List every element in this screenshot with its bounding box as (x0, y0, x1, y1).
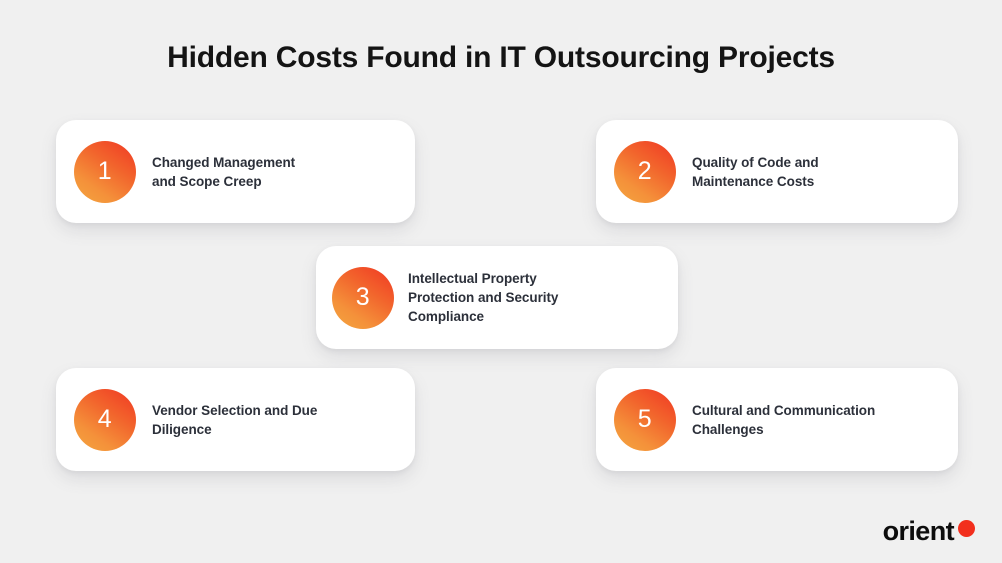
card-label-4-line-1: Vendor Selection and Due (152, 401, 317, 420)
page-title: Hidden Costs Found in IT Outsourcing Pro… (0, 38, 1002, 78)
card-label-1-line-1: Changed Management (152, 153, 295, 172)
card-number-badge-3: 3 (332, 267, 394, 329)
card-number-badge-5: 5 (614, 389, 676, 451)
card-label-5-line-1: Cultural and Communication (692, 401, 875, 420)
card-label-3-line-1: Intellectual Property (408, 269, 558, 288)
card-label-2: Quality of Code and Maintenance Costs (692, 153, 819, 191)
card-label-2-line-1: Quality of Code and (692, 153, 819, 172)
card-label-4-line-2: Diligence (152, 420, 317, 439)
logo-dot-icon (958, 520, 975, 537)
card-number-badge-2: 2 (614, 141, 676, 203)
card-label-3-line-2: Protection and Security (408, 288, 558, 307)
card-number-1: 1 (98, 159, 112, 184)
card-label-4: Vendor Selection and Due Diligence (152, 401, 317, 439)
card-label-5-line-2: Challenges (692, 420, 875, 439)
hidden-cost-card-4[interactable]: 4 Vendor Selection and Due Diligence (56, 368, 415, 471)
card-number-2: 2 (638, 159, 652, 184)
card-label-3-line-3: Compliance (408, 307, 558, 326)
card-label-3: Intellectual Property Protection and Sec… (408, 269, 558, 326)
orient-logo: orient (883, 518, 975, 545)
card-number-badge-4: 4 (74, 389, 136, 451)
card-label-1-line-2: and Scope Creep (152, 172, 295, 191)
hidden-cost-card-5[interactable]: 5 Cultural and Communication Challenges (596, 368, 958, 471)
card-label-2-line-2: Maintenance Costs (692, 172, 819, 191)
card-number-5: 5 (638, 407, 652, 432)
logo-wordmark: orient (883, 518, 954, 545)
hidden-cost-card-2[interactable]: 2 Quality of Code and Maintenance Costs (596, 120, 958, 223)
hidden-cost-card-1[interactable]: 1 Changed Management and Scope Creep (56, 120, 415, 223)
card-number-3: 3 (356, 285, 370, 310)
card-label-1: Changed Management and Scope Creep (152, 153, 295, 191)
hidden-cost-card-3[interactable]: 3 Intellectual Property Protection and S… (316, 246, 678, 349)
card-label-5: Cultural and Communication Challenges (692, 401, 875, 439)
card-number-badge-1: 1 (74, 141, 136, 203)
card-number-4: 4 (98, 407, 112, 432)
